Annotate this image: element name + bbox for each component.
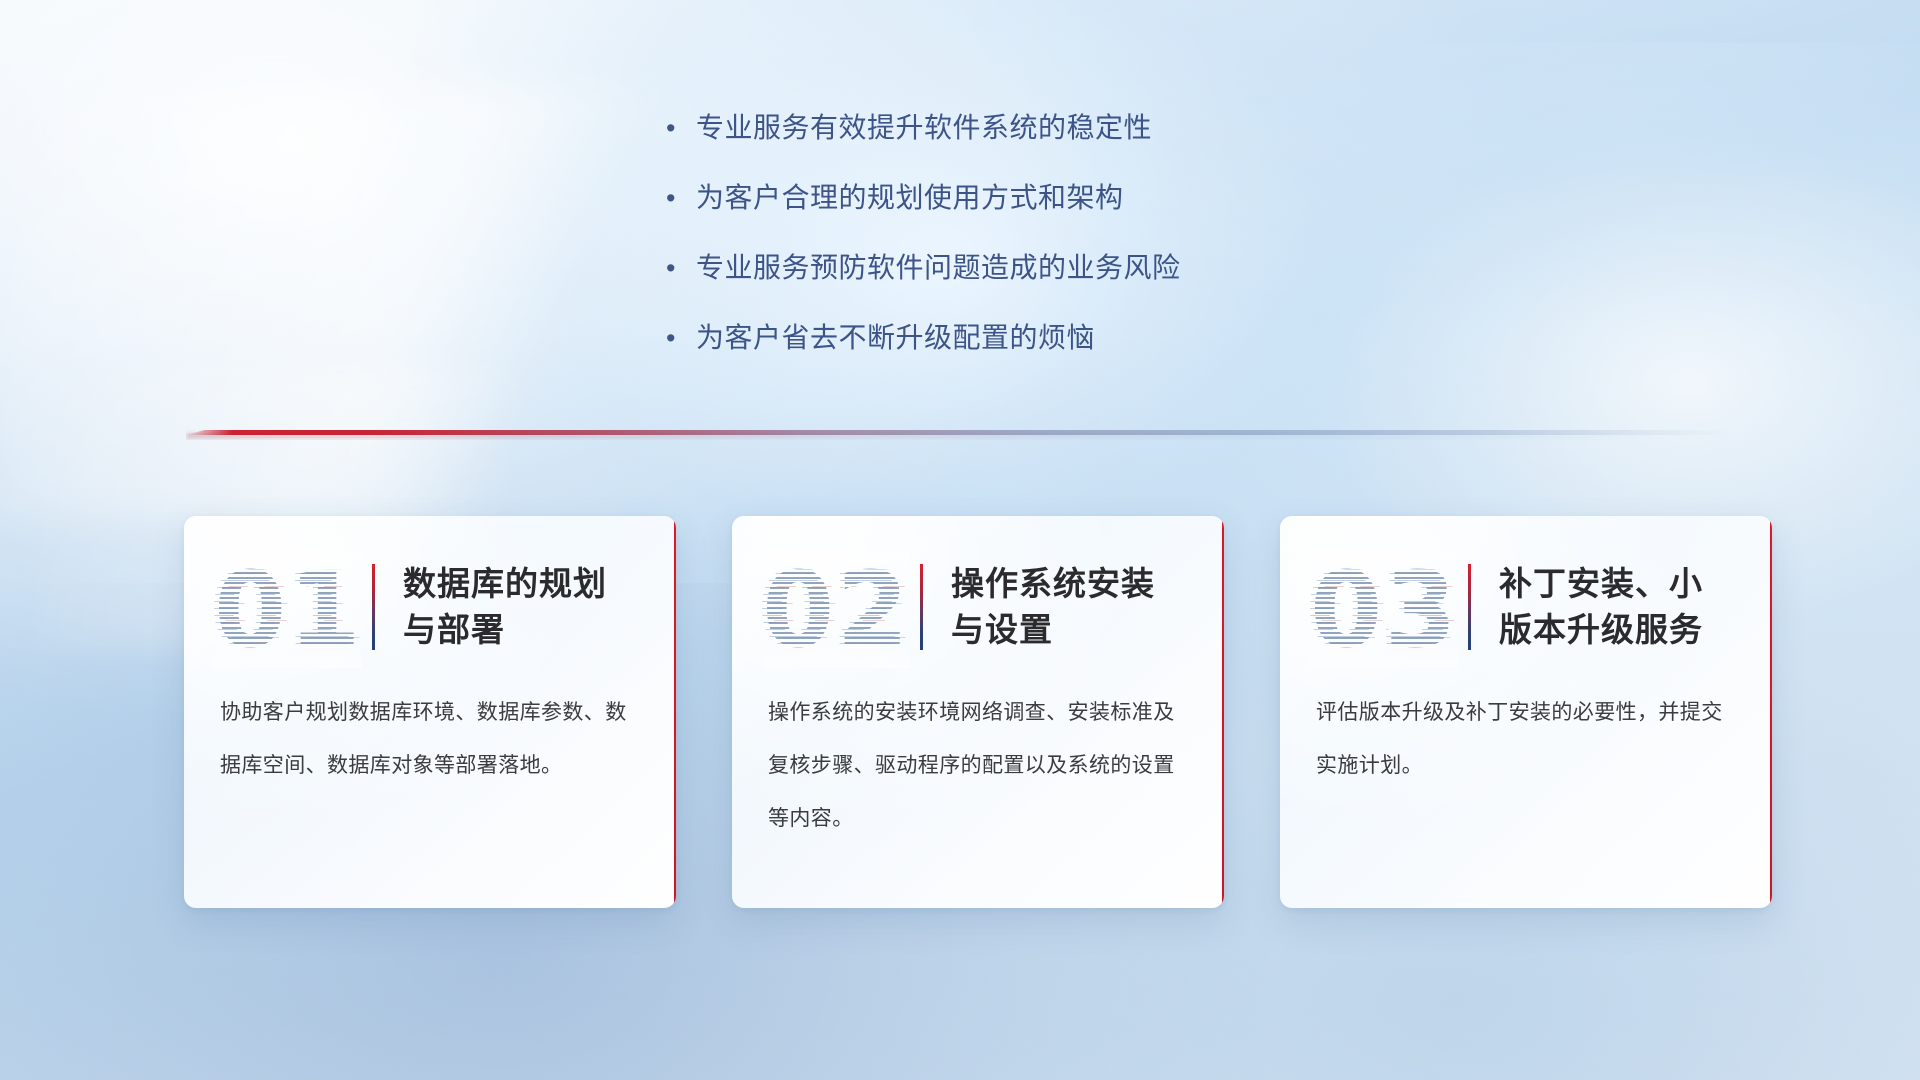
card-number-text: 01 [214,552,362,668]
service-card-02[interactable]: 02 02 02 操作系统安装 与设置 操作系统的安装环境网络调查、安装标准及复… [732,516,1224,908]
bullet-dot-icon: • [660,318,696,358]
bullet-text: 专业服务有效提升软件系统的稳定性 [696,108,1152,148]
divider-line [186,430,1732,435]
benefit-bullet-list: • 专业服务有效提升软件系统的稳定性 • 为客户合理的规划使用方式和架构 • 专… [660,108,1460,388]
bullet-item: • 为客户合理的规划使用方式和架构 [660,178,1460,218]
card-header: 03 03 03 补丁安装、小 版本升级服务 [1280,516,1772,676]
card-number-watermark: 02 02 02 [762,552,910,668]
bullet-dot-icon: • [660,108,696,148]
card-number-watermark: 03 03 03 [1310,552,1458,668]
card-title: 数据库的规划 与部署 [403,561,607,653]
slide-canvas: • 专业服务有效提升软件系统的稳定性 • 为客户合理的规划使用方式和架构 • 专… [0,0,1920,1080]
card-header: 02 02 02 操作系统安装 与设置 [732,516,1224,676]
bullet-item: • 专业服务有效提升软件系统的稳定性 [660,108,1460,148]
service-card-row: 01 01 01 数据库的规划 与部署 协助客户规划数据库环境、数据库参数、数据… [184,516,1772,908]
bullet-item: • 专业服务预防软件问题造成的业务风险 [660,248,1460,288]
card-body-text: 协助客户规划数据库环境、数据库参数、数据库空间、数据库对象等部署落地。 [184,676,676,792]
bullet-dot-icon: • [660,248,696,288]
card-title-rule [372,564,375,650]
section-divider [186,428,1732,440]
service-card-01[interactable]: 01 01 01 数据库的规划 与部署 协助客户规划数据库环境、数据库参数、数据… [184,516,676,908]
card-number-text: 02 [762,552,910,668]
bullet-item: • 为客户省去不断升级配置的烦恼 [660,318,1460,358]
card-body-text: 操作系统的安装环境网络调查、安装标准及复核步骤、驱动程序的配置以及系统的设置等内… [732,676,1224,845]
card-title-rule [920,564,923,650]
bullet-dot-icon: • [660,178,696,218]
card-body-text: 评估版本升级及补丁安装的必要性，并提交实施计划。 [1280,676,1772,792]
card-number-watermark: 01 01 01 [214,552,362,668]
card-number-text: 03 [1310,552,1458,668]
card-title: 操作系统安装 与设置 [951,561,1155,653]
card-title: 补丁安装、小 版本升级服务 [1499,561,1703,653]
card-header: 01 01 01 数据库的规划 与部署 [184,516,676,676]
card-title-rule [1468,564,1471,650]
bullet-text: 专业服务预防软件问题造成的业务风险 [696,248,1181,288]
service-card-03[interactable]: 03 03 03 补丁安装、小 版本升级服务 评估版本升级及补丁安装的必要性，并… [1280,516,1772,908]
bullet-text: 为客户合理的规划使用方式和架构 [696,178,1124,218]
bullet-text: 为客户省去不断升级配置的烦恼 [696,318,1095,358]
